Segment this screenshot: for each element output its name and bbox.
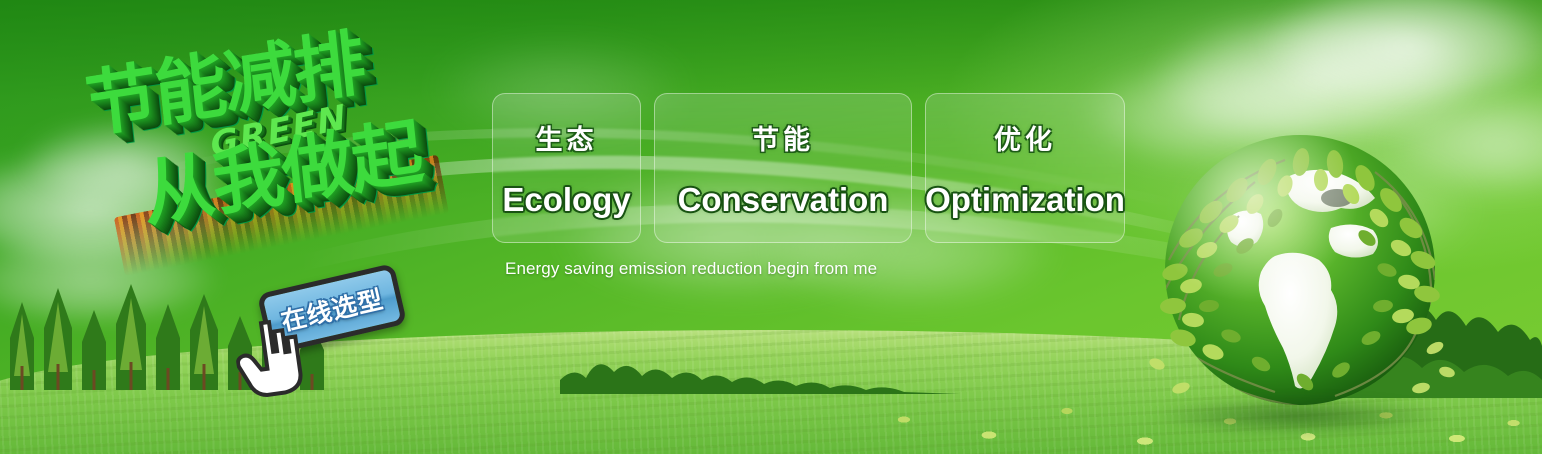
green-energy-banner: 节能减排 GREEN 从我做起 在线选型 生态 Ecology 节能 Conse…: [0, 0, 1542, 454]
headline-3d: 节能减排 GREEN 从我做起: [81, 18, 503, 289]
cloud-icon: [1260, 0, 1542, 100]
cloud-icon: [20, 120, 230, 200]
tagline: Energy saving emission reduction begin f…: [505, 259, 877, 279]
globe-shadow: [1149, 396, 1449, 436]
card-conservation-en: Conservation: [678, 181, 889, 219]
feature-card-list: 生态 Ecology 节能 Conservation 优化 Optimizati…: [492, 93, 1125, 243]
headline-line-3: 从我做起: [140, 104, 496, 231]
cloud-icon: [0, 230, 220, 320]
online-selection-label: 在线选型: [277, 280, 386, 338]
card-ecology[interactable]: 生态 Ecology: [492, 93, 641, 243]
card-ecology-cn: 生态: [536, 118, 598, 157]
card-conservation[interactable]: 节能 Conservation: [654, 93, 912, 243]
card-ecology-en: Ecology: [502, 181, 630, 219]
headline-green-word: GREEN: [208, 97, 350, 166]
headline-line-1: 节能减排: [82, 7, 485, 141]
globe-icon: [1135, 120, 1465, 440]
card-optimization-cn: 优化: [994, 118, 1056, 157]
leaf-globe: [1135, 120, 1465, 440]
ember-base-decoration: [114, 155, 449, 277]
card-conservation-cn: 节能: [752, 118, 814, 157]
card-optimization[interactable]: 优化 Optimization: [925, 93, 1125, 243]
cloud-icon: [0, 150, 240, 260]
card-optimization-en: Optimization: [925, 181, 1125, 219]
